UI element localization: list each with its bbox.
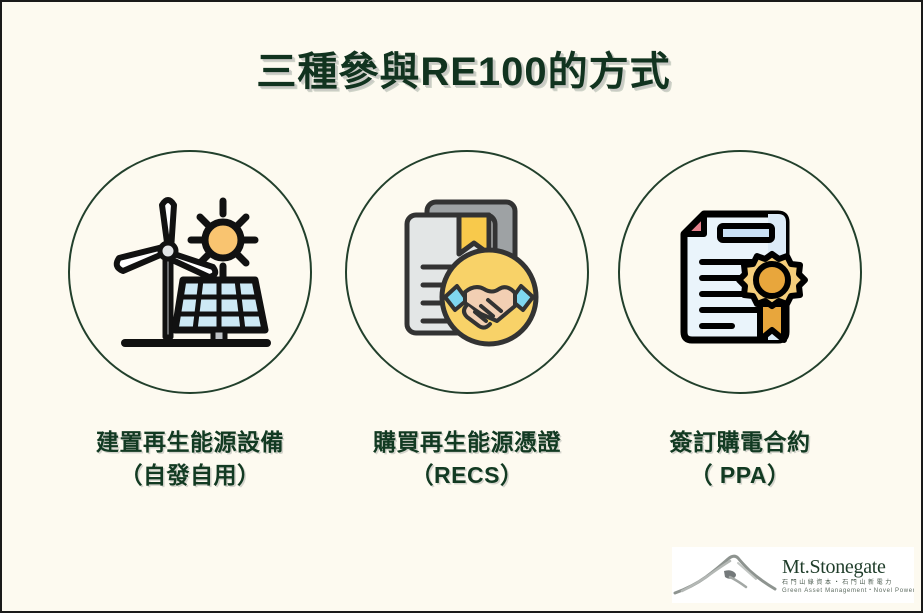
method-column-1: 建置再生能源設備 （自發自用） (65, 150, 315, 491)
icon-circle-2 (345, 150, 589, 394)
logo-text-block: Mt.Stonegate 石門山綠資本・石門山新電力 Green Asset M… (780, 557, 914, 594)
caption-line-2: （RECS） (342, 459, 592, 492)
mountain-ink-mark (672, 547, 780, 603)
logo-subtitle-en: Green Asset Management・Novel Power (782, 588, 914, 594)
renewable-energy-icon (105, 187, 275, 357)
caption-line-1: 建置再生能源設備 (96, 429, 284, 455)
caption-line-1: 簽訂購電合約 (670, 429, 811, 455)
method-caption-2: 購買再生能源憑證 （RECS） (342, 426, 592, 491)
certificate-handshake-icon (385, 190, 550, 355)
logo-name: Mt.Stonegate (782, 557, 914, 577)
slide-canvas: 三種參與RE100的方式 (0, 0, 923, 613)
method-column-3: 簽訂購電合約 （ PPA） (615, 150, 865, 491)
icon-circle-1 (68, 150, 312, 394)
caption-line-2: （自發自用） (65, 459, 315, 492)
caption-line-1: 購買再生能源憑證 (373, 429, 561, 455)
caption-line-2: （ PPA） (615, 459, 865, 492)
logo-subtitle-cn: 石門山綠資本・石門山新電力 (782, 580, 914, 586)
method-caption-3: 簽訂購電合約 （ PPA） (615, 426, 865, 491)
method-column-2: 購買再生能源憑證 （RECS） (342, 150, 592, 491)
icon-circle-3 (618, 150, 862, 394)
page-title: 三種參與RE100的方式 (2, 50, 923, 94)
method-caption-1: 建置再生能源設備 （自發自用） (65, 426, 315, 491)
brand-logo: Mt.Stonegate 石門山綠資本・石門山新電力 Green Asset M… (672, 547, 914, 603)
contract-seal-icon (660, 192, 820, 352)
